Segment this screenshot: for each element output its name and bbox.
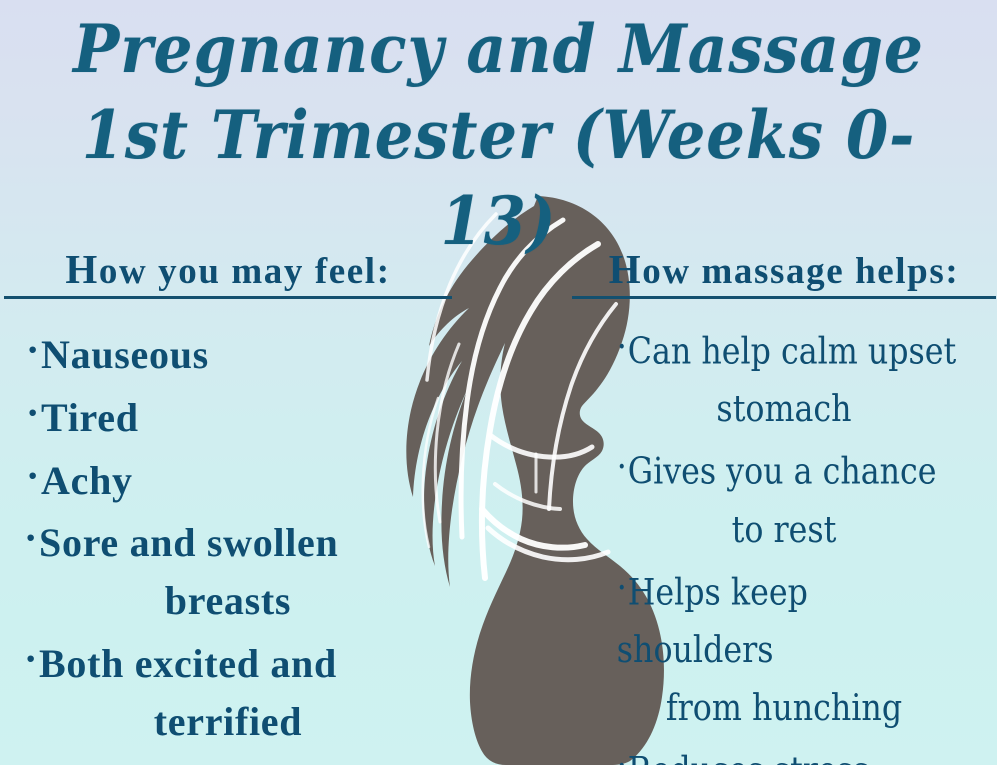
bullet-dot-icon: · bbox=[617, 439, 627, 497]
list-item-text: Nauseous bbox=[41, 332, 209, 377]
list-item-text-continued: terrified bbox=[4, 693, 452, 751]
list-item: ·Sore and swollen breasts bbox=[4, 509, 452, 630]
bullet-dot-icon: · bbox=[617, 560, 627, 618]
list-item-text: Can help calm upset bbox=[628, 331, 957, 372]
list-item: ·Both excited and terrified bbox=[4, 630, 452, 751]
bullet-dot-icon: · bbox=[26, 384, 40, 442]
bullet-dot-icon: · bbox=[617, 319, 627, 377]
bullet-dot-icon: · bbox=[617, 738, 627, 765]
list-item: ·Achy bbox=[4, 447, 452, 510]
bullet-dot-icon: · bbox=[24, 509, 38, 567]
how-massage-helps-column: How massage helps: ·Can help calm upset … bbox=[572, 248, 996, 765]
title-line-2: 1st Trimester (Weeks 0-13) bbox=[40, 92, 957, 264]
list-item-text: Sore and swollen bbox=[39, 520, 338, 565]
how-massage-helps-list: ·Can help calm upset stomach ·Gives you … bbox=[572, 319, 996, 765]
list-item-text-continued: breasts bbox=[4, 572, 452, 630]
list-item-text: Gives you a chance bbox=[628, 452, 937, 493]
list-item: ·Helps keep shoulders from hunching bbox=[572, 560, 996, 738]
list-item: ·Gives you a chance to rest bbox=[572, 439, 996, 559]
list-item-text: Reduces stress bbox=[628, 750, 870, 765]
list-item-text-continued: stomach bbox=[597, 381, 970, 439]
poster-title: Pregnancy and Massage 1st Trimester (Wee… bbox=[0, 6, 997, 264]
list-item-text: Both excited and bbox=[39, 641, 337, 686]
list-item: ·Nauseous bbox=[4, 321, 452, 384]
list-item: ·Reduces stress bbox=[572, 738, 996, 765]
title-line-1: Pregnancy and Massage bbox=[35, 6, 962, 92]
pregnancy-massage-poster: Pregnancy and Massage 1st Trimester (Wee… bbox=[0, 0, 997, 765]
bullet-dot-icon: · bbox=[24, 630, 38, 688]
how-you-may-feel-list: ·Nauseous ·Tired ·Achy ·Sore and swollen… bbox=[4, 321, 452, 751]
list-item: ·Tired bbox=[4, 384, 452, 447]
how-you-may-feel-column: How you may feel: ·Nauseous ·Tired ·Achy… bbox=[4, 248, 452, 751]
bullet-dot-icon: · bbox=[26, 447, 40, 505]
list-item-text: Helps keep shoulders bbox=[617, 572, 808, 671]
list-item-text: Achy bbox=[41, 457, 133, 502]
list-item-text-continued: from hunching bbox=[597, 680, 970, 738]
list-item-text: Tired bbox=[41, 395, 139, 440]
list-item: ·Can help calm upset stomach bbox=[572, 319, 996, 439]
list-item-text-continued: to rest bbox=[597, 502, 970, 560]
bullet-dot-icon: · bbox=[26, 321, 40, 379]
